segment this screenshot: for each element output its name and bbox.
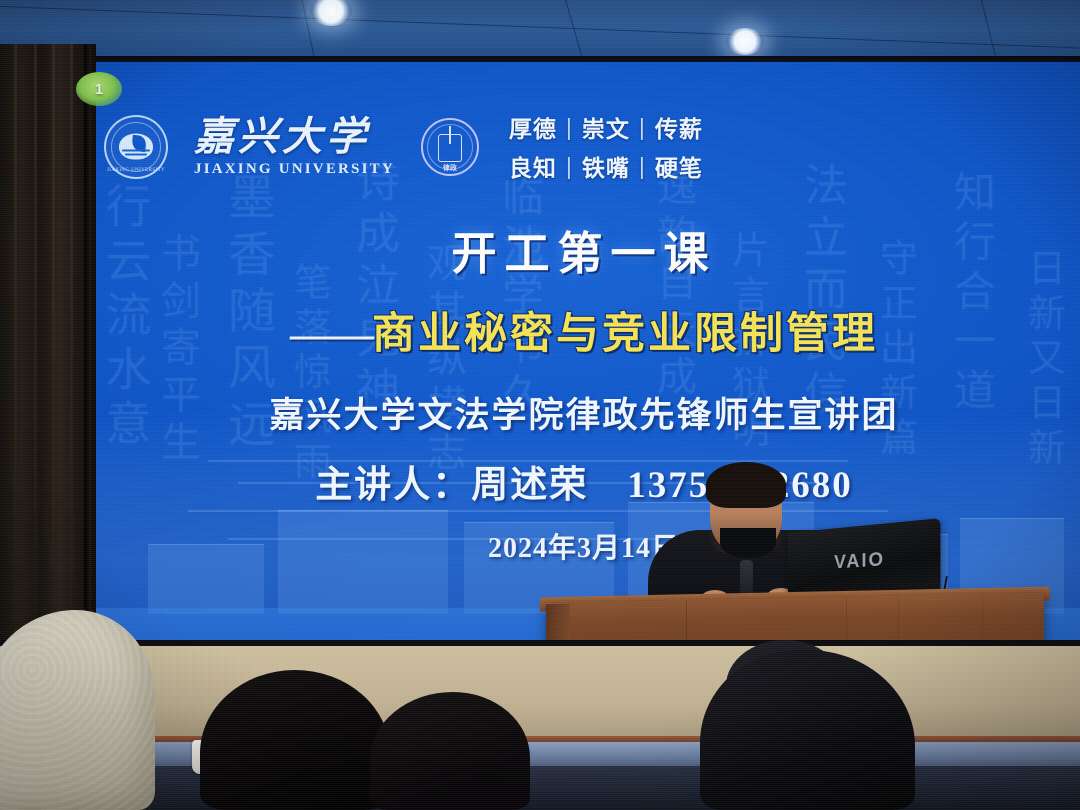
motto-word: 崇文 (582, 110, 630, 144)
motto-separator: | (566, 114, 573, 141)
screen-header: JIAXING UNIVERSITY 嘉兴大学 JIAXING UNIVERSI… (104, 110, 703, 183)
ceiling-downlight (726, 28, 764, 55)
speaker-hair (706, 462, 786, 508)
speaker-collar (720, 528, 776, 558)
slide-speaker-line: 主讲人：周述荣 13758302680 (88, 454, 1080, 508)
subtitle-dash: —— (290, 311, 372, 358)
motto-word: 传薪 (655, 110, 703, 144)
audience-bench (0, 742, 1080, 768)
motto-word: 硬笔 (655, 149, 703, 183)
photo-canvas: 行云流水意 书剑寄平生 墨香随风远 笔落惊风雨 诗成泣鬼神 观其纵横志 临池学书… (0, 0, 1080, 810)
back-wall (0, 646, 1080, 746)
motto-word: 铁嘴 (582, 149, 630, 183)
slide-title-block: 开工第一课 ——商业秘密与竞业限制管理 嘉兴大学文法学院律政先锋师生宣讲团 主讲… (88, 217, 1080, 566)
slide-organization: 嘉兴大学文法学院律政先锋师生宣讲团 (88, 387, 1080, 438)
ceiling-downlight (310, 0, 352, 26)
audience-member-fleece (0, 610, 155, 810)
university-name-en: JIAXING UNIVERSITY (194, 162, 395, 177)
slide-subtitle-row: ——商业秘密与竞业限制管理 (88, 299, 1080, 361)
slide-subtitle: 商业秘密与竞业限制管理 (372, 311, 878, 358)
motto-line-2: 良知 | 铁嘴 | 硬笔 (509, 149, 703, 183)
motto-word: 厚德 (509, 110, 557, 144)
law-pioneer-seal-icon: 律政 (421, 118, 479, 176)
motto-separator: | (639, 153, 646, 180)
motto-separator: | (566, 153, 573, 180)
motto-line-1: 厚德 | 崇文 | 传薪 (509, 110, 703, 144)
curtain-edge (84, 44, 91, 676)
law-seal-glyph-text: 律政 (443, 163, 457, 173)
motto-separator: | (639, 114, 646, 141)
slide-main-title: 开工第一课 (88, 217, 1080, 282)
university-name-cn: 嘉兴大学 (194, 117, 395, 157)
jiaxing-university-seal-icon: JIAXING UNIVERSITY (104, 115, 168, 179)
seal-rim-text: JIAXING UNIVERSITY (106, 168, 166, 173)
motto-word: 良知 (509, 149, 557, 183)
touch-point-indicator: 1 (76, 72, 122, 106)
laptop-brand-label: VAIO (834, 549, 885, 574)
foreground-floor (0, 766, 1080, 810)
motto-block: 厚德 | 崇文 | 传薪 良知 | 铁嘴 | 硬笔 (509, 110, 703, 183)
stage-curtain-left (0, 44, 96, 674)
university-name: 嘉兴大学 JIAXING UNIVERSITY (194, 117, 395, 177)
